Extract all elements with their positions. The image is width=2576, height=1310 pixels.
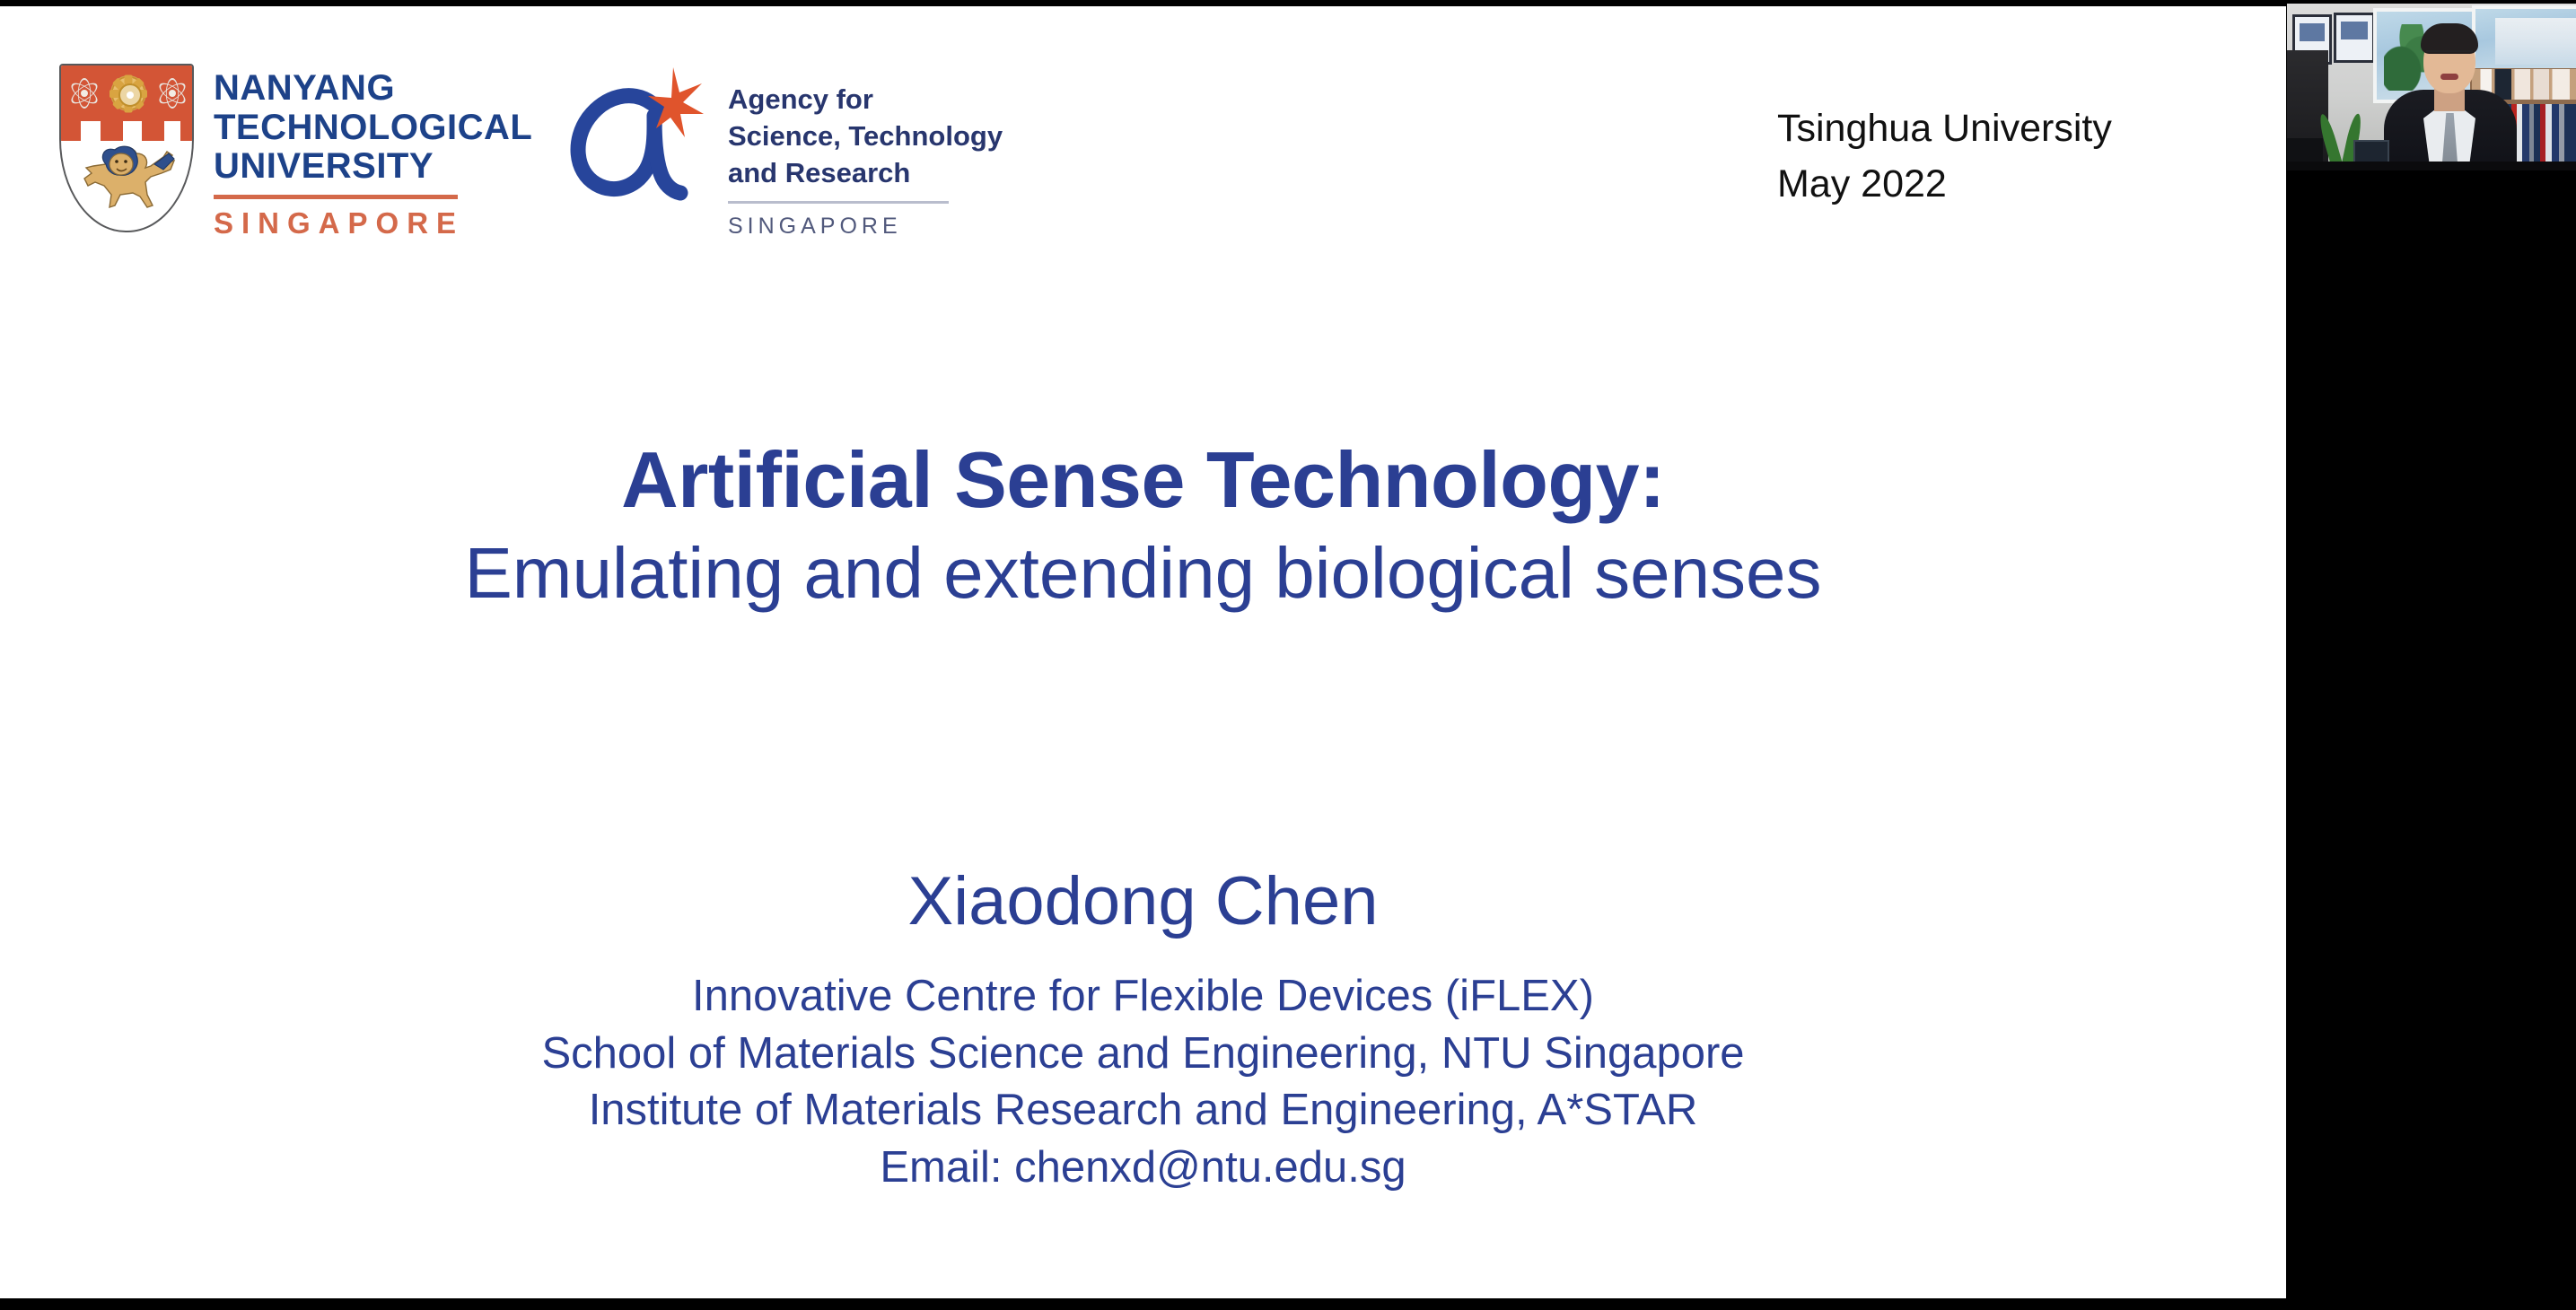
astar-divider — [728, 201, 949, 204]
shield-crenel — [101, 121, 123, 141]
presenter-mouth — [2440, 74, 2458, 80]
shield-crenel — [142, 121, 164, 141]
event-meta: Tsinghua University May 2022 — [1777, 100, 2112, 213]
author-block: Xiaodong Chen Innovative Centre for Flex… — [0, 863, 2286, 1197]
astar-logo: Agency for Science, Technology and Resea… — [565, 62, 1003, 240]
wall-frame-icon — [2334, 13, 2375, 63]
ntu-wordmark: NANYANG TECHNOLOGICAL UNIVERSITY SINGAPO… — [214, 64, 532, 240]
author-name: Xiaodong Chen — [0, 863, 2286, 939]
astar-a-star-icon — [565, 62, 723, 205]
astar-line-1: Agency for — [728, 82, 1003, 118]
desk-surface — [2287, 162, 2576, 170]
ntu-country: SINGAPORE — [214, 206, 532, 240]
ntu-line-3: UNIVERSITY — [214, 147, 532, 187]
lion-icon — [74, 143, 183, 218]
astar-wordmark: Agency for Science, Technology and Resea… — [728, 62, 1003, 240]
glasses-icon — [2426, 50, 2473, 64]
author-email: Email: chenxd@ntu.edu.sg — [0, 1140, 2286, 1197]
atom-icon — [69, 78, 100, 109]
author-affiliation-3: Institute of Materials Research and Engi… — [0, 1082, 2286, 1140]
ntu-line-1: NANYANG — [214, 69, 532, 109]
presenter-hair — [2421, 23, 2478, 54]
ntu-shield-icon — [59, 64, 194, 232]
slide-canvas: NANYANG TECHNOLOGICAL UNIVERSITY SINGAPO… — [0, 6, 2286, 1298]
gear-icon — [110, 75, 146, 111]
ntu-logo: NANYANG TECHNOLOGICAL UNIVERSITY SINGAPO… — [59, 64, 532, 240]
event-venue: Tsinghua University — [1777, 100, 2112, 156]
astar-country: SINGAPORE — [728, 214, 1003, 240]
astar-line-2: Science, Technology — [728, 118, 1003, 155]
shield-crenel — [61, 121, 81, 141]
slide-title: Artificial Sense Technology: — [0, 437, 2286, 524]
title-block: Artificial Sense Technology: Emulating a… — [0, 437, 2286, 613]
slide-subtitle: Emulating and extending biological sense… — [0, 533, 2286, 614]
ntu-divider — [214, 195, 458, 199]
event-date: May 2022 — [1777, 156, 2112, 212]
atom-icon — [157, 78, 188, 109]
presenter-video-tile[interactable] — [2287, 4, 2576, 170]
astar-line-3: and Research — [728, 155, 1003, 192]
presentation-viewport: NANYANG TECHNOLOGICAL UNIVERSITY SINGAPO… — [0, 0, 2576, 1310]
whiteboard — [2495, 18, 2576, 65]
author-affiliation-2: School of Materials Science and Engineer… — [0, 1026, 2286, 1083]
ntu-line-2: TECHNOLOGICAL — [214, 109, 532, 148]
author-affiliation-1: Innovative Centre for Flexible Devices (… — [0, 968, 2286, 1026]
shield-crenel — [180, 121, 194, 141]
